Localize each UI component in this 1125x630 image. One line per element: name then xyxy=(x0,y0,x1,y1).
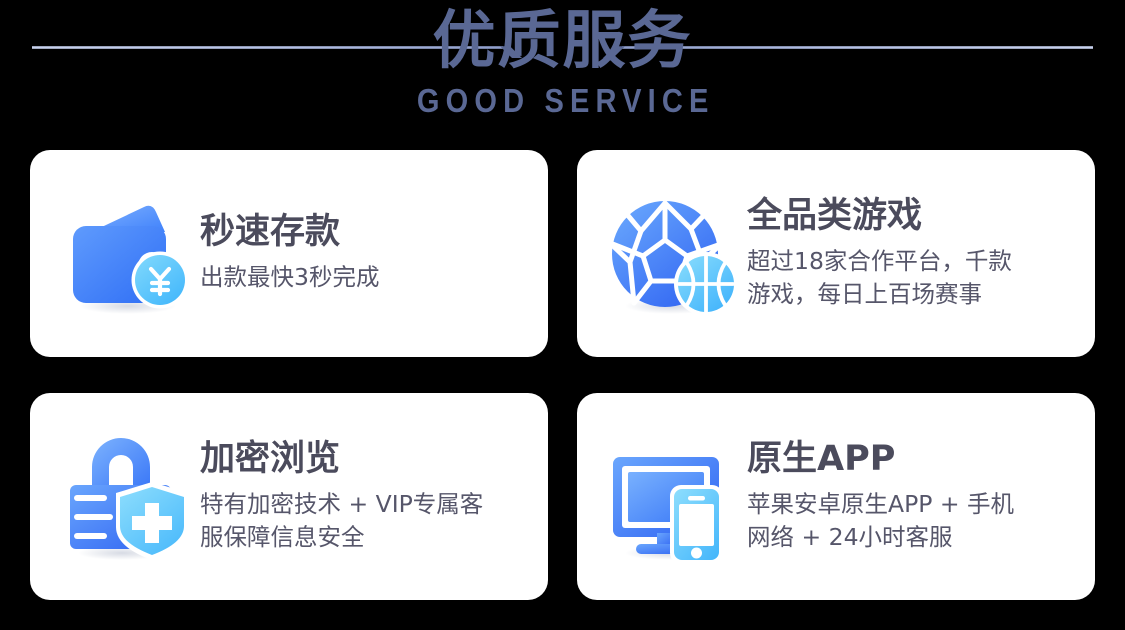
page-title: 优质服务 xyxy=(433,6,693,77)
card-icon-wrapper xyxy=(603,184,743,324)
card-description-line: 苹果安卓原生APP + 手机 xyxy=(747,488,1073,521)
header-title-block: 优质服务 GOOD SERVICE xyxy=(0,6,1125,120)
soccer-basketball-icon xyxy=(603,184,743,324)
card-title: 加密浏览 xyxy=(200,439,526,479)
card-icon-wrapper xyxy=(603,427,743,567)
card-title: 原生APP xyxy=(747,439,1073,479)
card-text-block: 加密浏览 特有加密技术 + VIP专属客 服保障信息安全 xyxy=(200,439,526,555)
wallet-yen-icon xyxy=(56,184,196,324)
card-title: 秒速存款 xyxy=(200,212,526,252)
card-description: 特有加密技术 + VIP专属客 服保障信息安全 xyxy=(200,488,526,555)
card-description: 出款最快3秒完成 xyxy=(200,261,526,294)
card-text-block: 原生APP 苹果安卓原生APP + 手机 网络 + 24小时客服 xyxy=(747,439,1073,555)
promo-page: 优质服务 GOOD SERVICE xyxy=(0,0,1125,630)
card-text-block: 秒速存款 出款最快3秒完成 xyxy=(200,212,526,295)
card-description-line: 网络 + 24小时客服 xyxy=(747,521,1073,554)
page-subtitle: GOOD SERVICE xyxy=(411,82,715,120)
card-description-line: 服保障信息安全 xyxy=(200,521,526,554)
card-icon-wrapper xyxy=(56,184,196,324)
feature-card-games[interactable]: 全品类游戏 超过18家合作平台，千款 游戏，每日上百场赛事 xyxy=(577,150,1095,357)
card-description-line: 超过18家合作平台，千款 xyxy=(747,245,1073,278)
feature-card-native-app[interactable]: 原生APP 苹果安卓原生APP + 手机 网络 + 24小时客服 xyxy=(577,393,1095,600)
feature-card-deposit[interactable]: 秒速存款 出款最快3秒完成 xyxy=(30,150,548,357)
card-text-block: 全品类游戏 超过18家合作平台，千款 游戏，每日上百场赛事 xyxy=(747,196,1073,312)
card-description-line: 游戏，每日上百场赛事 xyxy=(747,278,1073,311)
card-title: 全品类游戏 xyxy=(747,196,1073,236)
monitor-phone-icon xyxy=(603,427,743,567)
card-description-line: 出款最快3秒完成 xyxy=(200,261,526,294)
page-header: 优质服务 GOOD SERVICE xyxy=(0,0,1125,148)
card-description-line: 特有加密技术 + VIP专属客 xyxy=(200,488,526,521)
feature-card-encryption[interactable]: 加密浏览 特有加密技术 + VIP专属客 服保障信息安全 xyxy=(30,393,548,600)
feature-card-grid: 秒速存款 出款最快3秒完成 xyxy=(30,150,1095,595)
card-icon-wrapper xyxy=(56,427,196,567)
lock-shield-icon xyxy=(56,427,196,567)
card-description: 超过18家合作平台，千款 游戏，每日上百场赛事 xyxy=(747,245,1073,312)
card-description: 苹果安卓原生APP + 手机 网络 + 24小时客服 xyxy=(747,488,1073,555)
